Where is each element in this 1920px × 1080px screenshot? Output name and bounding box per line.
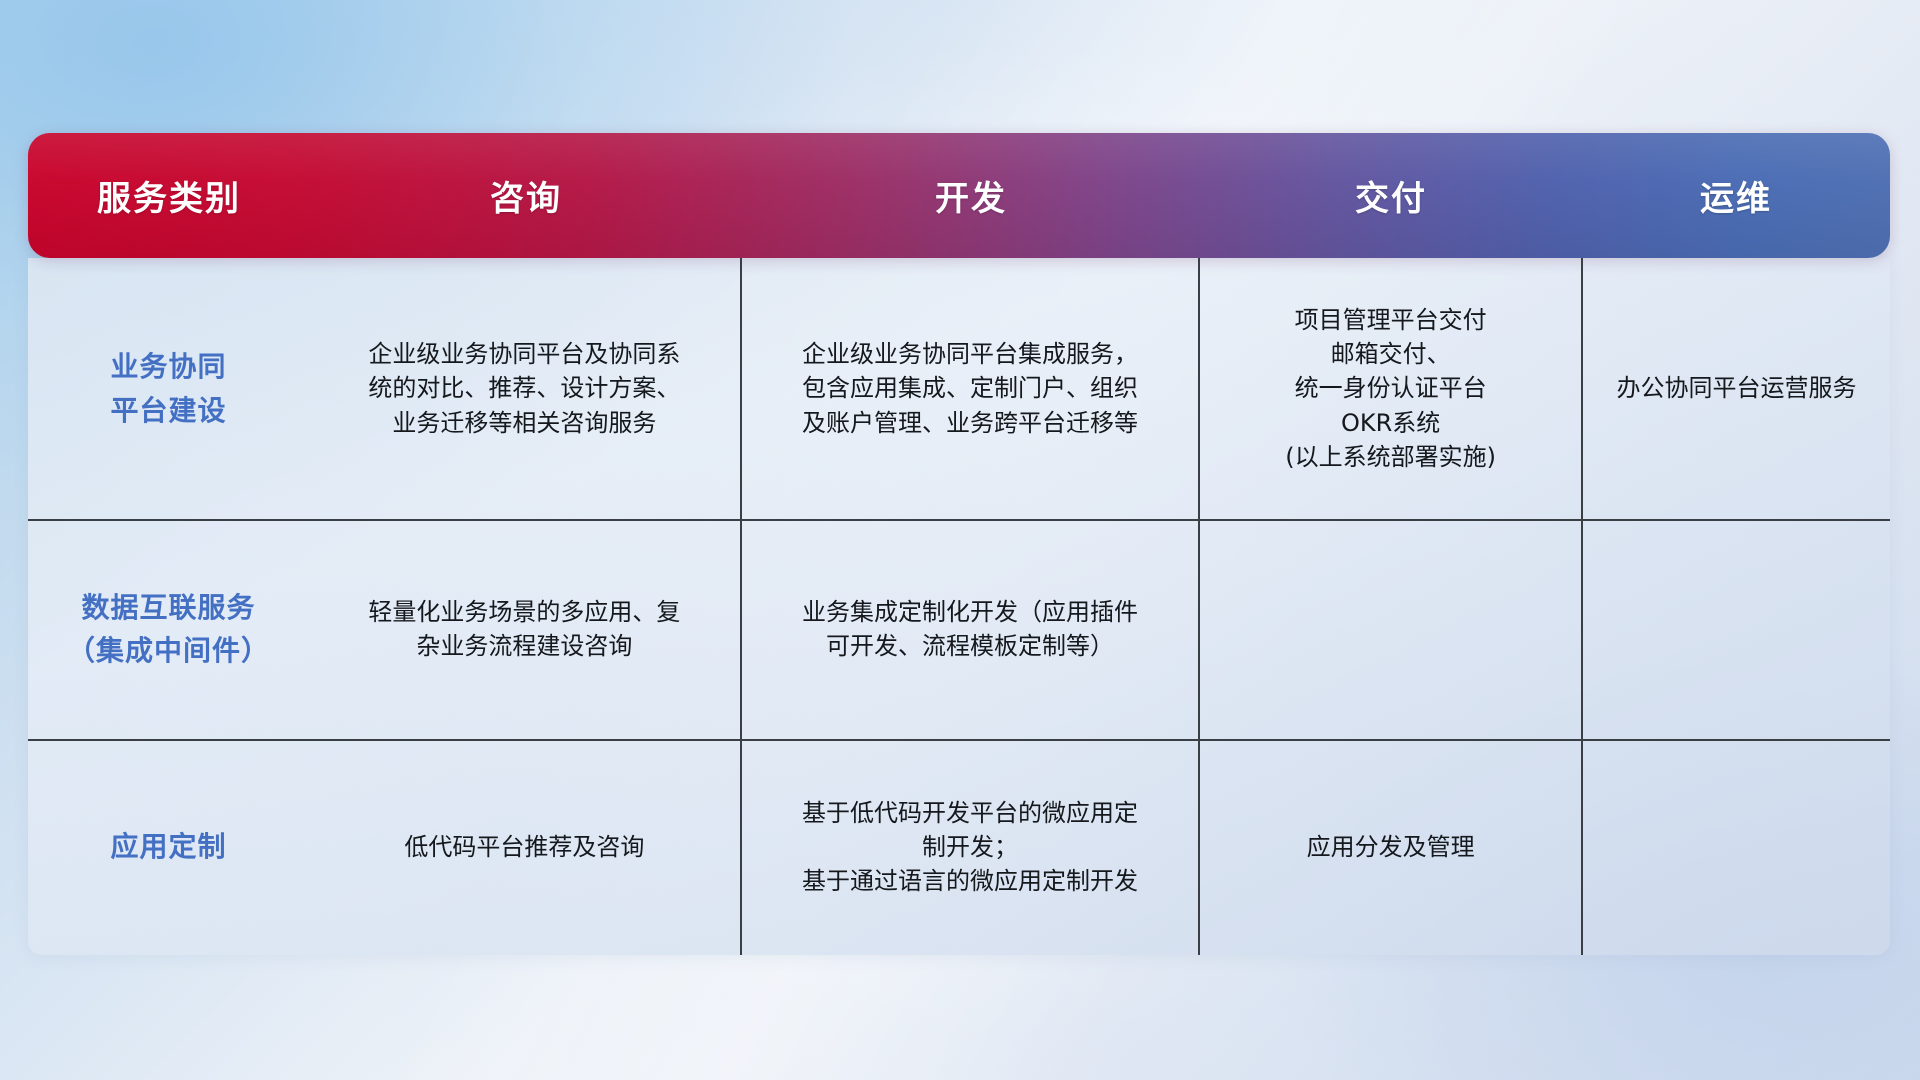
cell-operations-row1: 办公协同平台运营服务	[1583, 258, 1890, 519]
row-separator-1	[28, 519, 1890, 521]
column-header-service-category[interactable]: 服务类别	[28, 171, 310, 220]
cell-delivery-row1: 项目管理平台交付 邮箱交付、 统一身份认证平台 OKR系统 (以上系统部署实施)	[1200, 258, 1581, 519]
column-service-category: 业务协同 平台建设 数据互联服务 （集成中间件） 应用定制	[28, 258, 309, 955]
cell-development-row3: 基于低代码开发平台的微应用定 制开发； 基于通过语言的微应用定制开发	[742, 739, 1199, 955]
column-development: 企业级业务协同平台集成服务， 包含应用集成、定制门户、组织 及账户管理、业务跨平…	[740, 258, 1199, 955]
cell-consulting-row3: 低代码平台推荐及咨询	[309, 739, 740, 955]
row-separator-2	[28, 739, 1890, 741]
cell-delivery-row2	[1200, 519, 1581, 739]
row-label-app-customization: 应用定制	[28, 739, 309, 955]
cell-delivery-row3: 应用分发及管理	[1200, 739, 1581, 955]
cell-consulting-row2: 轻量化业务场景的多应用、复 杂业务流程建设咨询	[309, 519, 740, 739]
table-grid: 业务协同 平台建设 数据互联服务 （集成中间件） 应用定制 企业级业务协同平台及…	[28, 258, 1890, 955]
column-header-operations[interactable]: 运维	[1582, 171, 1890, 220]
column-header-consulting[interactable]: 咨询	[310, 171, 742, 220]
cell-development-row1: 企业级业务协同平台集成服务， 包含应用集成、定制门户、组织 及账户管理、业务跨平…	[742, 258, 1199, 519]
table-header-bar: 服务类别 咨询 开发 交付 运维	[28, 133, 1890, 258]
cell-development-row2: 业务集成定制化开发（应用插件 可开发、流程模板定制等）	[742, 519, 1199, 739]
column-header-development[interactable]: 开发	[742, 171, 1200, 220]
row-label-data-interconnect: 数据互联服务 （集成中间件）	[28, 519, 309, 739]
column-header-delivery[interactable]: 交付	[1200, 171, 1582, 220]
column-delivery: 项目管理平台交付 邮箱交付、 统一身份认证平台 OKR系统 (以上系统部署实施)…	[1198, 258, 1581, 955]
row-label-business-collaboration: 业务协同 平台建设	[28, 258, 309, 519]
column-consulting: 企业级业务协同平台及协同系 统的对比、推荐、设计方案、 业务迁移等相关咨询服务 …	[309, 258, 740, 955]
cell-operations-row3	[1583, 739, 1890, 955]
service-matrix-table: 服务类别 咨询 开发 交付 运维 业务协同 平台建设 数据互联服务 （集成中间件…	[28, 133, 1890, 955]
cell-operations-row2	[1583, 519, 1890, 739]
table-header-row: 服务类别 咨询 开发 交付 运维	[28, 133, 1890, 258]
cell-consulting-row1: 企业级业务协同平台及协同系 统的对比、推荐、设计方案、 业务迁移等相关咨询服务	[309, 258, 740, 519]
column-operations: 办公协同平台运营服务	[1581, 258, 1890, 955]
